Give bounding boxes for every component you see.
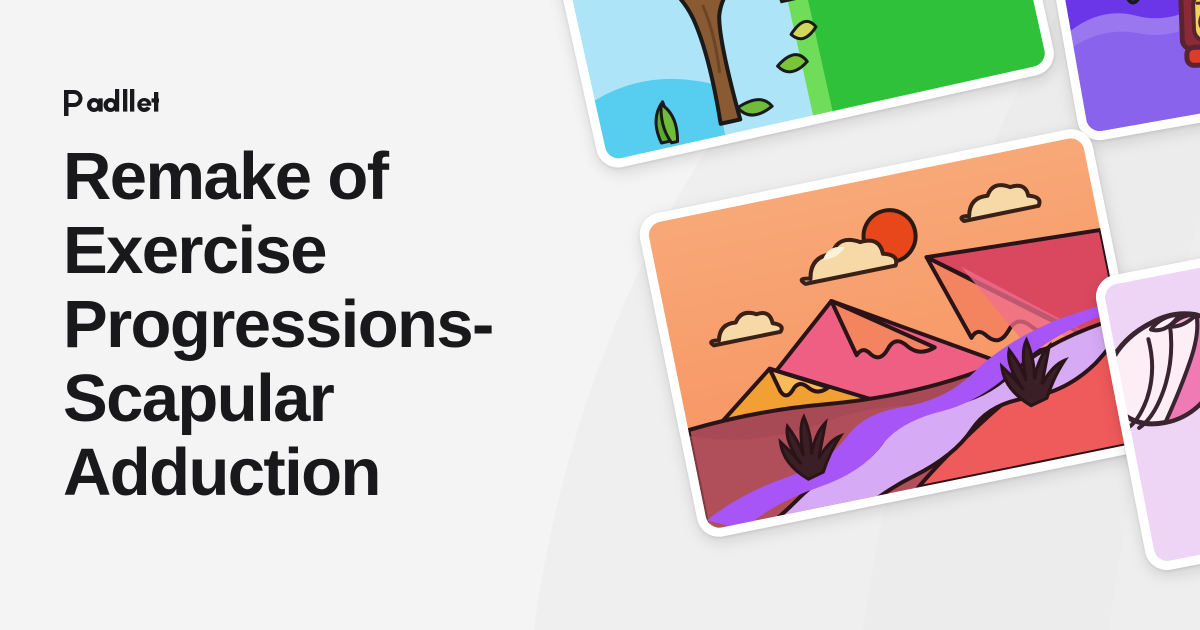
padlet-wordmark-logo-icon <box>63 88 493 122</box>
text-column: Remake of Exercise Progressions-Scapular… <box>63 88 493 510</box>
page-title: Remake of Exercise Progressions-Scapular… <box>63 140 493 510</box>
share-card-canvas: Remake of Exercise Progressions-Scapular… <box>0 0 1200 630</box>
